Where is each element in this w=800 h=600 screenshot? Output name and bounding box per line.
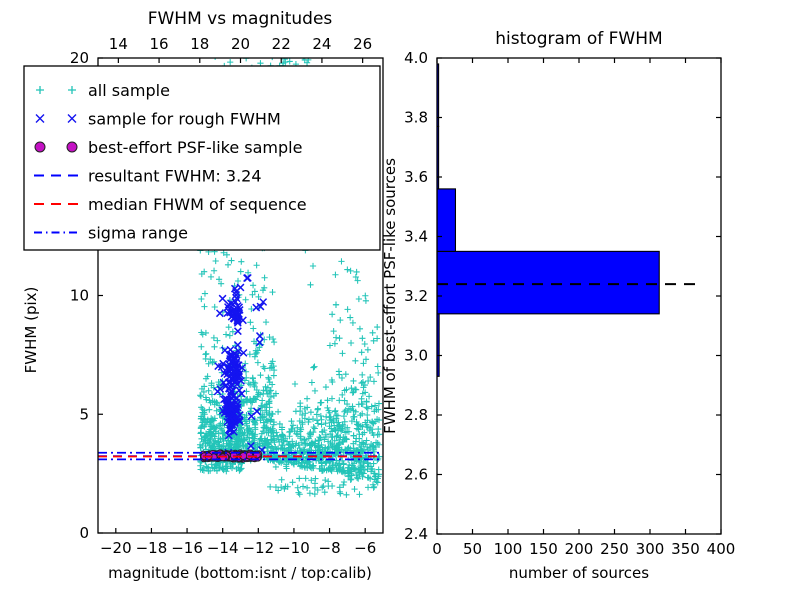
left-ytick-label: 5: [79, 405, 89, 423]
left-xtick-label: −8: [319, 539, 341, 557]
histogram-bar: [437, 251, 659, 313]
circle-icon: [67, 142, 77, 152]
left-xtick-top-label: 26: [353, 35, 372, 53]
right-xtick-label: 350: [671, 540, 700, 558]
legend-label: resultant FWHM: 3.24: [88, 167, 262, 186]
right-xlabel: number of sources: [509, 564, 649, 582]
right-ytick-label: 2.8: [404, 406, 428, 424]
right-ylabel: FWHM of best-effort PSF-like sources: [381, 158, 399, 434]
right-ytick-label: 3.0: [404, 347, 428, 365]
left-xtick-top-label: 14: [109, 35, 128, 53]
right-ytick-label: 2.6: [404, 466, 428, 484]
left-xtick-top-label: 20: [231, 35, 250, 53]
left-xtick-top-label: 24: [312, 35, 331, 53]
legend-label: best-effort PSF-like sample: [88, 138, 302, 157]
right-xtick-label: 200: [565, 540, 594, 558]
right-ytick-label: 4.0: [404, 49, 428, 67]
right-xtick-label: 50: [463, 540, 482, 558]
left-xtick-label: −12: [242, 539, 274, 557]
left-xtick-label: −20: [100, 539, 132, 557]
left-xtick-top-label: 22: [272, 35, 291, 53]
left-panel-title: FWHM vs magnitudes: [148, 9, 333, 29]
legend-label: sigma range: [88, 224, 188, 243]
legend-label: sample for rough FWHM: [88, 110, 281, 129]
right-xtick-label: 150: [529, 540, 558, 558]
matplotlib-figure: FWHM vs magnitudes −20−18−16−14−12−10−8−…: [0, 0, 800, 600]
right-ytick-label: 2.4: [404, 525, 428, 543]
right-ytick-label: 3.8: [404, 109, 428, 127]
figure-canvas: FWHM vs magnitudes −20−18−16−14−12−10−8−…: [0, 0, 800, 600]
right-ytick-label: 3.6: [404, 168, 428, 186]
right-xtick-label: 250: [600, 540, 629, 558]
histogram-bar: [437, 189, 455, 251]
right-xtick-label: 100: [494, 540, 523, 558]
legend[interactable]: all samplesample for rough FWHMbest-effo…: [24, 66, 380, 250]
left-xtick-label: −14: [207, 539, 239, 557]
legend-label: all sample: [88, 81, 170, 100]
left-xlabel: magnitude (bottom:isnt / top:calib): [108, 564, 372, 582]
right-xtick-label: 0: [432, 540, 442, 558]
left-xtick-label: −10: [278, 539, 310, 557]
legend-box: [24, 66, 380, 250]
left-xtick-label: −18: [136, 539, 168, 557]
left-xtick-top-label: 18: [190, 35, 209, 53]
right-ytick-label: 3.2: [404, 287, 428, 305]
left-xtick-label: −16: [171, 539, 203, 557]
left-ytick-label: 20: [70, 49, 89, 67]
legend-label: median FHWM of sequence: [88, 195, 307, 214]
left-ytick-label: 0: [79, 524, 89, 542]
left-ytick-label: 10: [70, 287, 89, 305]
right-xtick-label: 300: [636, 540, 665, 558]
left-xtick-label: −6: [354, 539, 376, 557]
left-xtick-top-label: 16: [150, 35, 169, 53]
right-ytick-label: 3.4: [404, 228, 428, 246]
right-xtick-label: 400: [707, 540, 736, 558]
right-panel-title: histogram of FWHM: [495, 29, 662, 49]
circle-icon: [35, 142, 45, 152]
left-ylabel: FWHM (pix): [22, 287, 40, 374]
